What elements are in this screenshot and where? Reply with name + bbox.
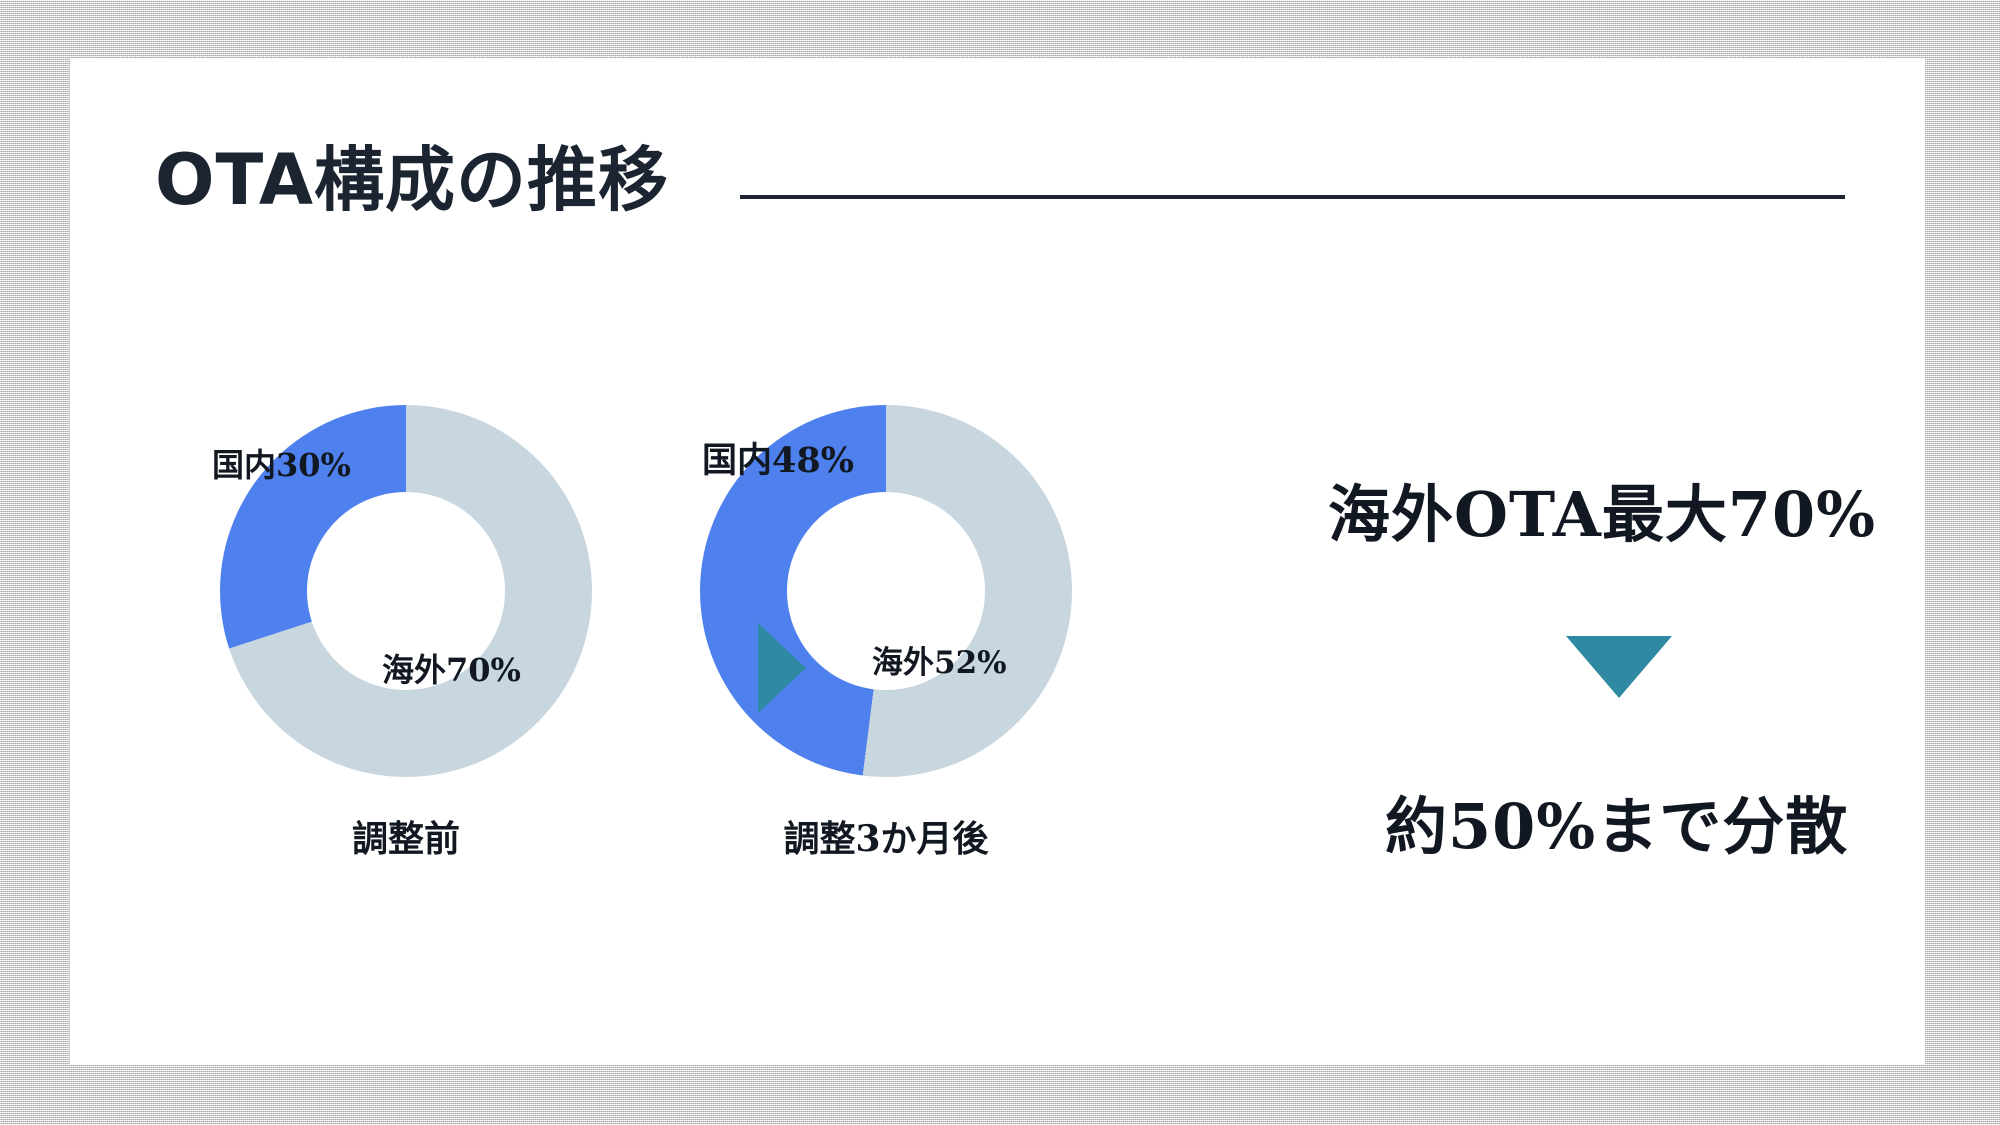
page-title: OTA構成の推移 [155,135,669,225]
chart-block-after: 国内48% 海外52% 調整3か月後 [700,405,1080,777]
slice-label-domestic: 国内48% [702,432,854,483]
donut-chart-after: 国内48% 海外52% [700,405,1072,777]
callout-headline-top: 海外OTA最大70% [1328,464,1876,554]
title-divider-rule [740,195,1845,199]
triangle-right-icon [758,623,806,713]
slice-label-domestic: 国内30% [212,440,351,486]
callout-headline-bottom: 約50%まで分散 [1385,776,1848,866]
triangle-down-icon [1566,636,1672,698]
donut-chart-before: 国内30% 海外70% [220,405,592,777]
slide-card: OTA構成の推移 国内30% 海外70% 調整前 国内48% 海外52% 調整3… [70,58,1925,1065]
chart-caption-after: 調整3か月後 [700,810,1072,862]
title-row: OTA構成の推移 [155,135,1845,225]
slice-label-overseas: 海外70% [382,645,521,691]
slide-canvas: OTA構成の推移 国内30% 海外70% 調整前 国内48% 海外52% 調整3… [0,0,2000,1125]
chart-block-before: 国内30% 海外70% 調整前 [220,405,600,777]
slice-label-overseas: 海外52% [872,637,1007,682]
chart-caption-before: 調整前 [220,810,592,862]
